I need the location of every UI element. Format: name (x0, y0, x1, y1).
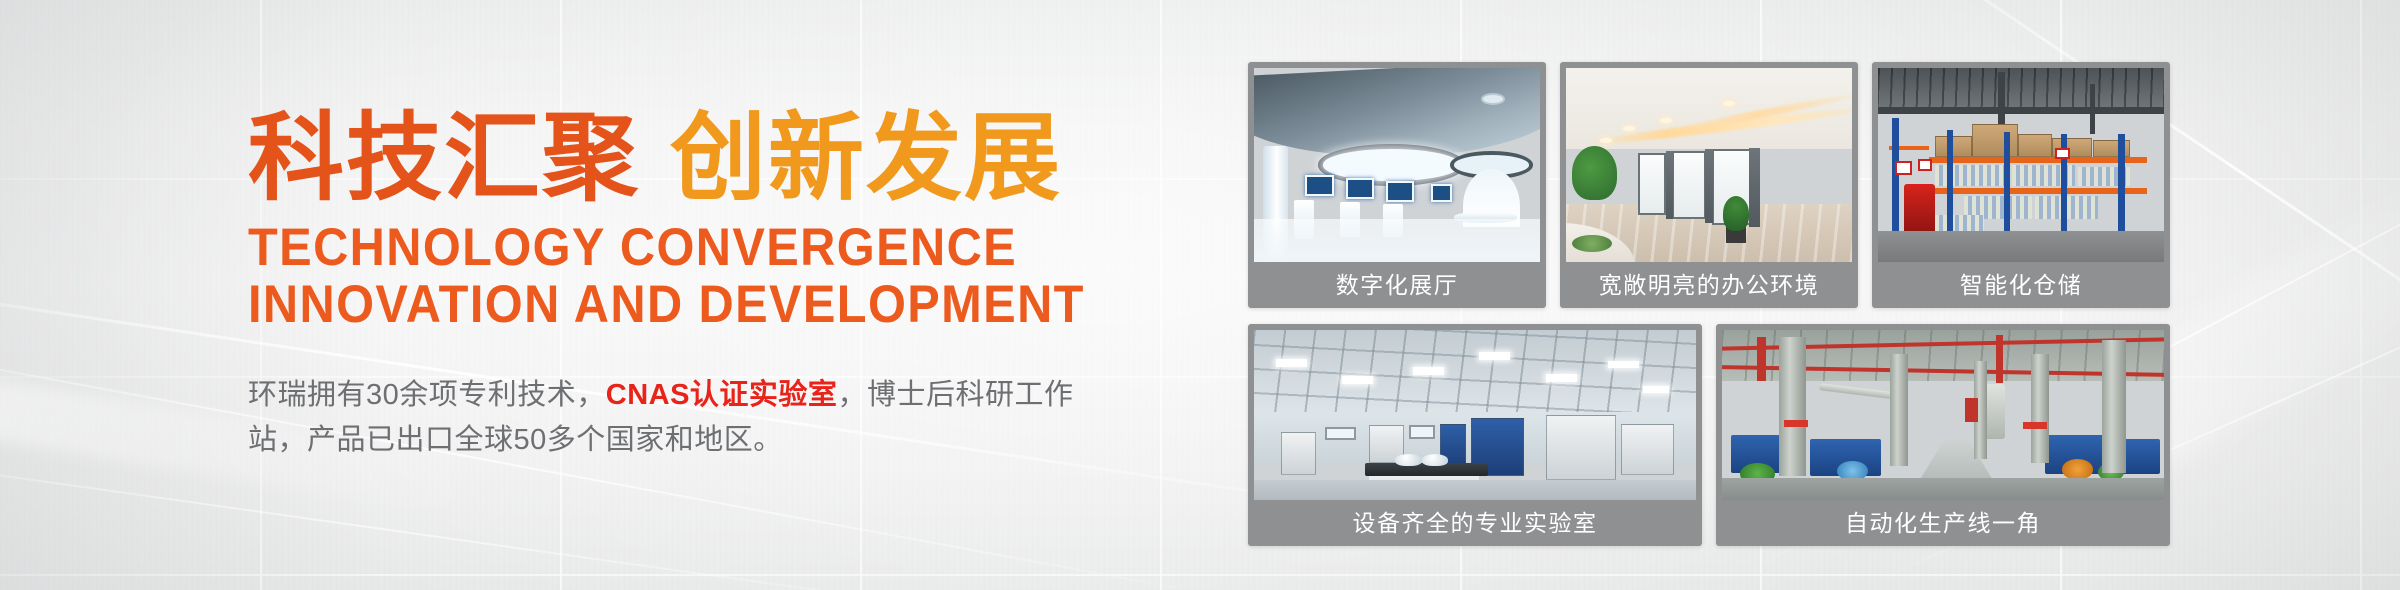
photo-caption: 智能化仓储 (1878, 262, 2164, 308)
photo-card-digital-showroom[interactable]: 数字化展厅 (1248, 62, 1546, 308)
photo-card-office-corridor[interactable]: 宽敞明亮的办公环境 (1560, 62, 1858, 308)
photo-card-laboratory[interactable]: 设备齐全的专业实验室 (1248, 324, 1702, 546)
photo-card-smart-warehouse[interactable]: 智能化仓储 (1872, 62, 2170, 308)
description-paragraph: 环瑞拥有30余项专利技术，CNAS认证实验室，博士后科研工作站，产品已出口全球5… (248, 373, 1128, 463)
photo-caption: 数字化展厅 (1254, 262, 1540, 308)
english-subtitle-line-1: TECHNOLOGY CONVERGENCE (248, 220, 1094, 277)
english-subtitle: TECHNOLOGY CONVERGENCE INNOVATION AND DE… (248, 220, 1094, 333)
headline: 科技汇聚创新发展 (248, 110, 1168, 206)
headline-part-1: 科技汇聚 (248, 101, 640, 214)
photo-office-corridor (1566, 68, 1852, 262)
photo-gallery: 数字化展厅 宽敞明亮的办公环境 (1248, 62, 2338, 532)
english-subtitle-line-2: INNOVATION AND DEVELOPMENT (248, 277, 1094, 334)
photo-card-production-line[interactable]: 自动化生产线一角 (1716, 324, 2170, 546)
description-text-before: 环瑞拥有30余项专利技术， (248, 379, 606, 411)
photo-caption: 自动化生产线一角 (1722, 500, 2164, 546)
photo-digital-showroom (1254, 68, 1540, 262)
photo-caption: 设备齐全的专业实验室 (1254, 500, 1696, 546)
photo-laboratory (1254, 330, 1696, 500)
photo-caption: 宽敞明亮的办公环境 (1566, 262, 1852, 308)
headline-part-2: 创新发展 (670, 101, 1062, 214)
photo-smart-warehouse (1878, 68, 2164, 262)
banner-copy-block: 科技汇聚创新发展 TECHNOLOGY CONVERGENCE INNOVATI… (248, 110, 1168, 463)
cnas-highlight: CNAS认证实验室 (606, 379, 838, 411)
photo-production-line (1722, 330, 2164, 500)
promo-banner: 科技汇聚创新发展 TECHNOLOGY CONVERGENCE INNOVATI… (0, 0, 2400, 590)
